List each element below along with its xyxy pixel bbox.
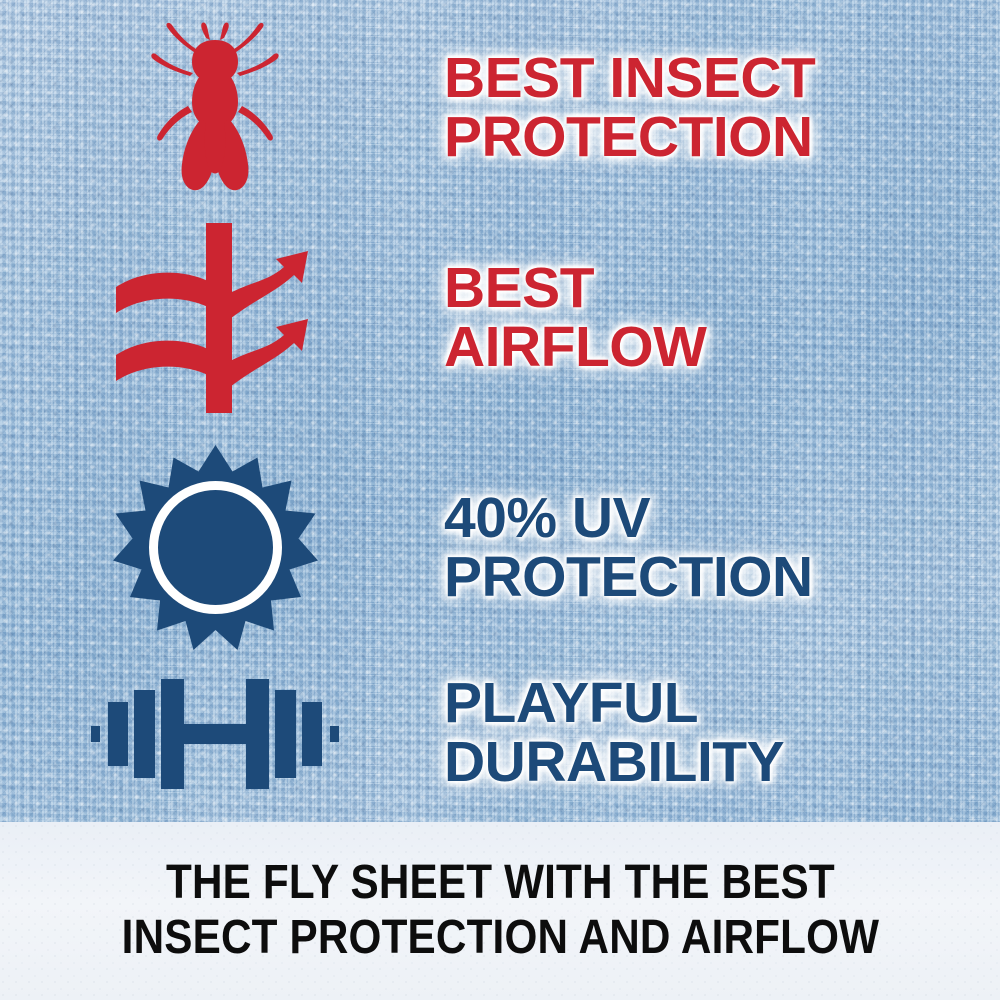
feature-label-durability: PLAYFUL DURABILITY	[444, 674, 1000, 791]
feature-label-airflow: BEST AIRFLOW	[444, 259, 1000, 376]
dumbbell-icon	[89, 674, 341, 792]
product-feature-poster: BEST INSECT PROTECTION	[0, 0, 1000, 1000]
icon-cell-airflow	[0, 223, 430, 413]
caption-headline: THE FLY SHEET WITH THE BEST INSECT PROTE…	[121, 856, 879, 965]
airflow-arrows-icon	[108, 223, 323, 413]
sun-uv-icon	[113, 445, 318, 650]
feature-row-airflow: BEST AIRFLOW	[0, 218, 1000, 418]
label-cell-durability: PLAYFUL DURABILITY	[430, 674, 1000, 791]
feature-row-durability: PLAYFUL DURABILITY	[0, 655, 1000, 810]
icon-cell-insect	[0, 18, 430, 198]
icon-cell-uv	[0, 445, 430, 650]
feature-label-uv-protection: 40% UV PROTECTION	[444, 489, 1000, 606]
label-cell-uv: 40% UV PROTECTION	[430, 489, 1000, 606]
feature-row-insect-protection: BEST INSECT PROTECTION	[0, 10, 1000, 205]
label-cell-airflow: BEST AIRFLOW	[430, 259, 1000, 376]
icon-cell-durability	[0, 674, 430, 792]
fly-icon	[140, 18, 290, 198]
caption-bar: THE FLY SHEET WITH THE BEST INSECT PROTE…	[0, 822, 1000, 1000]
feature-label-insect-protection: BEST INSECT PROTECTION	[444, 49, 1000, 166]
feature-row-uv-protection: 40% UV PROTECTION	[0, 440, 1000, 655]
label-cell-insect: BEST INSECT PROTECTION	[430, 49, 1000, 166]
